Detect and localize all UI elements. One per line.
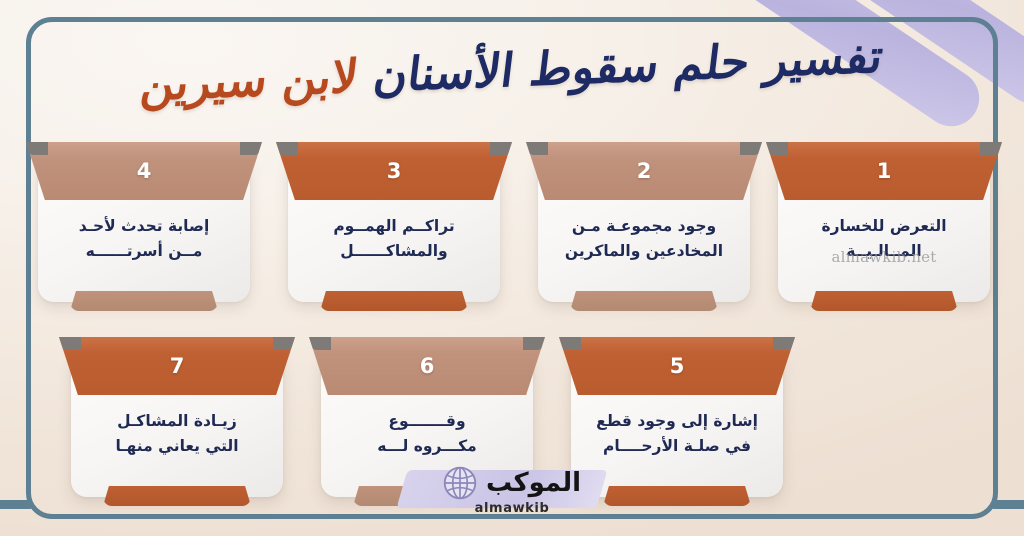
card-3-ribbon: 3 (276, 142, 512, 200)
footer-logo-plaque (397, 470, 608, 508)
card-4-ribbon: 4 (26, 142, 262, 200)
card-5-ribbon-foot (603, 486, 751, 506)
card-4-line-1: إصابة تحدث لأحـد (48, 214, 240, 239)
decorative-dash-left (0, 500, 32, 509)
card-1-ribbon: 1 (766, 142, 1002, 200)
title-navy-part: تفسير حلم سقوط الأسنان (371, 29, 886, 102)
card-2-text: وجود مجموعـة مـن المخادعين والماكرين (548, 214, 740, 264)
card-1[interactable]: 1 التعرض للخسارة المــالـيــة almawkib.n… (778, 152, 990, 302)
card-2[interactable]: 2 وجود مجموعـة مـن المخادعين والماكرين (538, 152, 750, 302)
decorative-dash-right (992, 500, 1024, 509)
card-7-text: زيـادة المشاكـل التي يعاني منهـا (81, 409, 273, 459)
card-7[interactable]: 7 زيـادة المشاكـل التي يعاني منهـا (71, 347, 283, 497)
card-7-line-1: زيـادة المشاكـل (81, 409, 273, 434)
card-7-ribbon-foot (103, 486, 251, 506)
card-4[interactable]: 4 إصابة تحدث لأحـد مــن أسرتــــــه (38, 152, 250, 302)
card-4-text: إصابة تحدث لأحـد مــن أسرتــــــه (48, 214, 240, 264)
card-5-ribbon: 5 (559, 337, 795, 395)
card-6-line-1: وقـــــــوع (331, 409, 523, 434)
card-6-number: 6 (420, 354, 435, 378)
card-2-line-2: المخادعين والماكرين (548, 239, 740, 264)
card-6-ribbon: 6 (309, 337, 545, 395)
card-3-line-1: تراكــم الهمــوم (298, 214, 490, 239)
card-5-text: إشارة إلى وجود قطع في صلـة الأرحــــام (581, 409, 773, 459)
card-1-ribbon-foot (810, 291, 958, 311)
card-row-top: 1 التعرض للخسارة المــالـيــة almawkib.n… (0, 152, 990, 302)
card-7-number: 7 (170, 354, 185, 378)
card-3-line-2: والمشاكــــــل (298, 239, 490, 264)
card-6-line-2: مكـــروه لـــه (331, 434, 523, 459)
card-4-ribbon-foot (70, 291, 218, 311)
card-4-number: 4 (137, 159, 152, 183)
card-2-line-1: وجود مجموعـة مـن (548, 214, 740, 239)
title-rust-part: لابن سيرين (138, 49, 361, 111)
infographic-poster: تفسير حلم سقوط الأسنان لابن سيرين 1 التع… (0, 0, 1024, 536)
card-4-line-2: مــن أسرتــــــه (48, 239, 240, 264)
card-2-number: 2 (637, 159, 652, 183)
card-1-line-1: التعرض للخسارة (788, 214, 980, 239)
card-3-number: 3 (387, 159, 402, 183)
card-3-text: تراكــم الهمــوم والمشاكــــــل (298, 214, 490, 264)
card-2-ribbon-foot (570, 291, 718, 311)
card-1-number: 1 (877, 159, 892, 183)
card-5-line-2: في صلـة الأرحــــام (581, 434, 773, 459)
card-5-line-1: إشارة إلى وجود قطع (581, 409, 773, 434)
card-2-ribbon: 2 (526, 142, 762, 200)
card-3-ribbon-foot (320, 291, 468, 311)
card-7-ribbon: 7 (59, 337, 295, 395)
card-5-number: 5 (670, 354, 685, 378)
card-7-line-2: التي يعاني منهـا (81, 434, 273, 459)
card-6-text: وقـــــــوع مكـــروه لـــه (331, 409, 523, 459)
card-3[interactable]: 3 تراكــم الهمــوم والمشاكــــــل (288, 152, 500, 302)
watermark-text: almawkib.net (832, 248, 937, 266)
